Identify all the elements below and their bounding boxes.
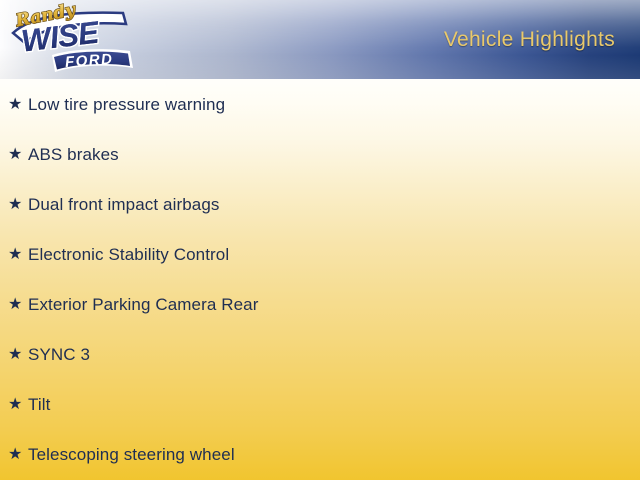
highlight-label: Telescoping steering wheel (28, 445, 235, 465)
randy-wise-ford-logo[interactable]: WISE WISE Randy Randy FORD (4, 2, 139, 80)
list-item: ★ Telescoping steering wheel (0, 443, 640, 467)
highlight-label: Exterior Parking Camera Rear (28, 295, 259, 315)
vehicle-highlights-list: ★ Low tire pressure warning ★ ABS brakes… (0, 79, 640, 480)
list-item: ★ SYNC 3 (0, 343, 640, 367)
list-item: ★ ABS brakes (0, 143, 640, 167)
list-item: ★ Electronic Stability Control (0, 243, 640, 267)
svg-text:FORD: FORD (64, 51, 114, 71)
highlight-label: Tilt (28, 395, 50, 415)
highlight-label: SYNC 3 (28, 345, 90, 365)
highlight-label: Dual front impact airbags (28, 195, 219, 215)
highlights-panel: ★ Low tire pressure warning ★ ABS brakes… (0, 79, 640, 480)
list-item: ★ Exterior Parking Camera Rear (0, 293, 640, 317)
list-item: ★ Low tire pressure warning (0, 93, 640, 117)
vehicle-highlights-page: Vehicle Highlights (0, 0, 640, 480)
logo-ford-banner: FORD (52, 49, 133, 72)
list-item: ★ Dual front impact airbags (0, 193, 640, 217)
highlight-label: Low tire pressure warning (28, 95, 225, 115)
star-bullet-icon: ★ (8, 447, 28, 463)
star-bullet-icon: ★ (8, 297, 28, 313)
star-bullet-icon: ★ (8, 397, 28, 413)
page-title: Vehicle Highlights (444, 28, 615, 52)
star-bullet-icon: ★ (8, 97, 28, 113)
list-item: ★ Tilt (0, 393, 640, 417)
header-bar: Vehicle Highlights (0, 0, 640, 79)
star-bullet-icon: ★ (8, 247, 28, 263)
star-bullet-icon: ★ (8, 197, 28, 213)
highlight-label: ABS brakes (28, 145, 119, 165)
star-bullet-icon: ★ (8, 347, 28, 363)
star-bullet-icon: ★ (8, 147, 28, 163)
highlight-label: Electronic Stability Control (28, 245, 229, 265)
